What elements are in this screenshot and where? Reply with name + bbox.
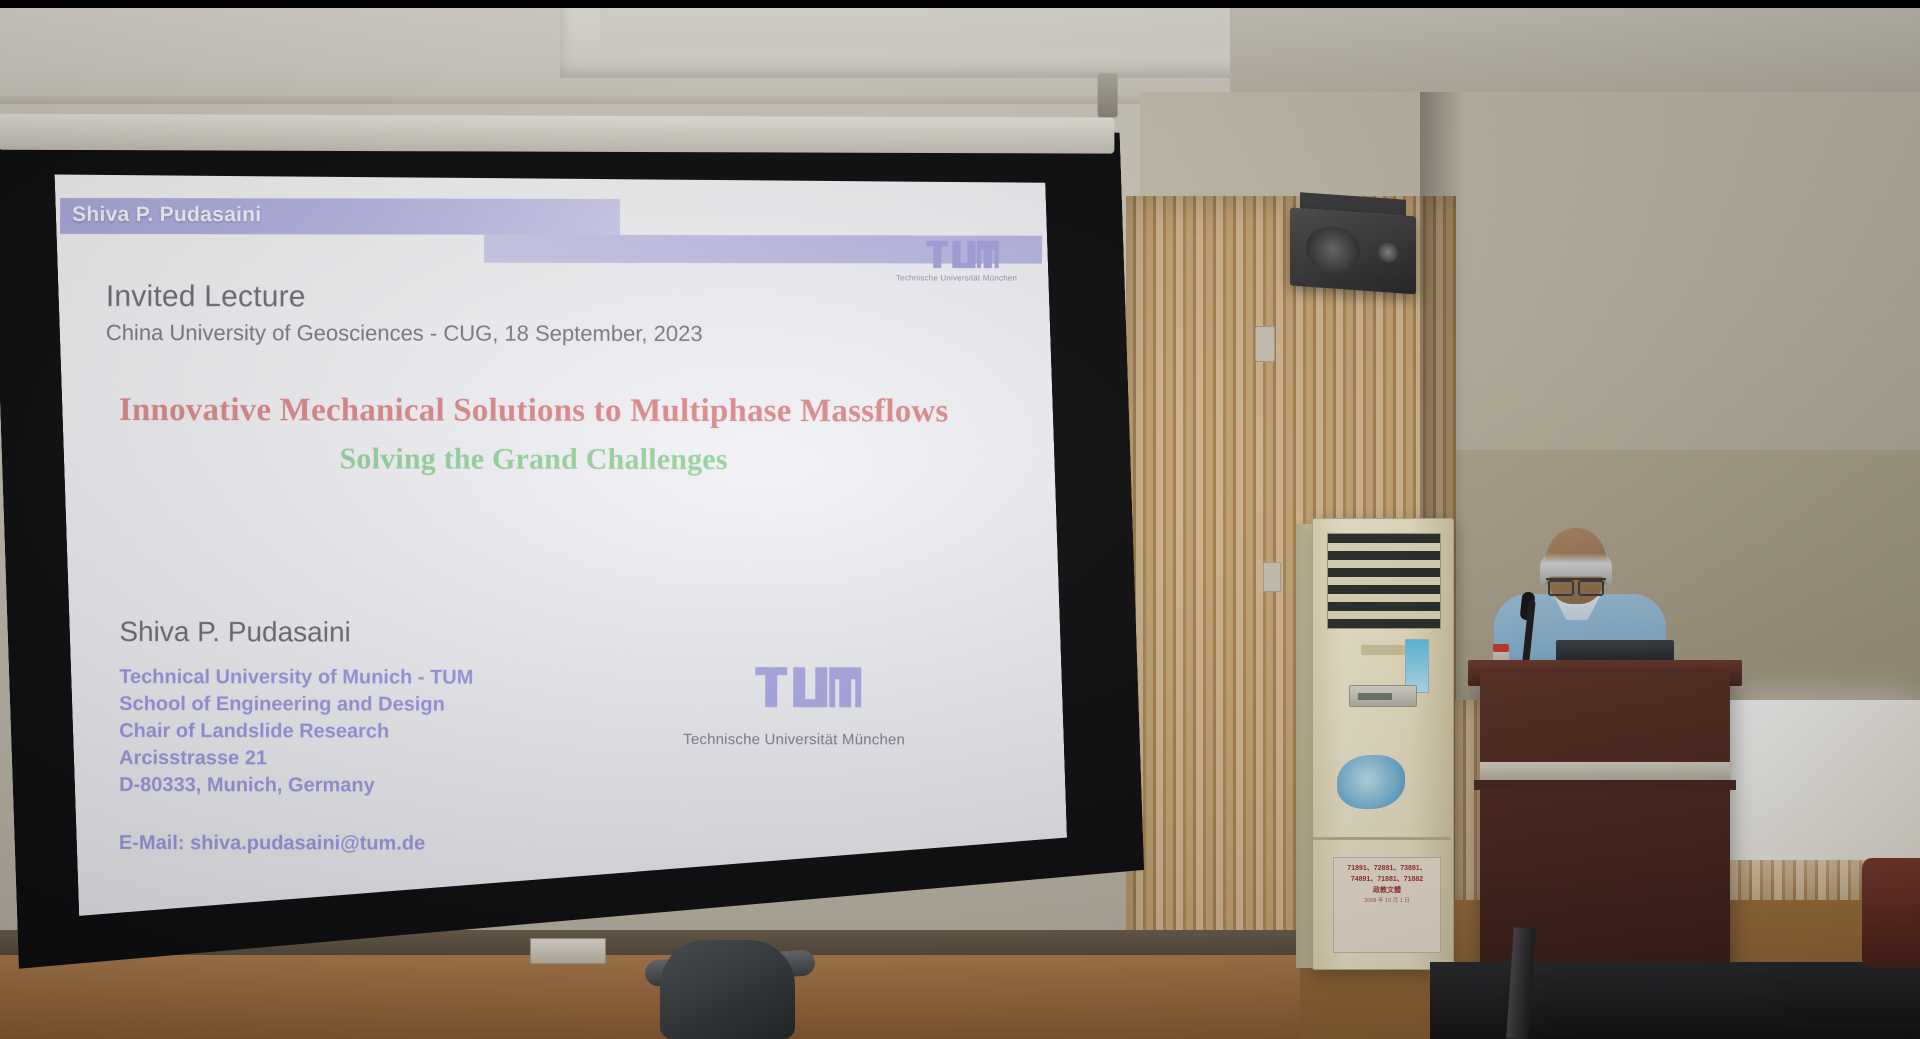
podium-front-edge (1474, 780, 1736, 790)
speaker-cone-icon (1306, 225, 1360, 275)
ac-notice-line2: 74891、71881、71882 (1337, 874, 1437, 885)
ac-display-icon (1358, 693, 1392, 700)
air-conditioner: 71891、72891、73891、 74891、71881、71882 政教文… (1312, 518, 1454, 970)
bottle-cap-icon (1493, 644, 1509, 652)
slide-venue: China University of Geosciences - CUG, 1… (106, 320, 703, 347)
ceiling-beam (1230, 0, 1920, 92)
screen-roller-housing (0, 114, 1114, 154)
ac-brand-logo (1361, 645, 1405, 655)
wall-speaker (1290, 208, 1416, 295)
slide-author: Shiva P. Pudasaini (119, 616, 350, 648)
slide-name-bar-text: Shiva P. Pudasaini (72, 203, 261, 227)
foreground-chair (660, 940, 795, 1039)
ac-decal-icon (1337, 755, 1405, 809)
ac-control-panel[interactable] (1349, 685, 1417, 707)
ac-notice-line4: 2008 年 10 月 1 日 (1337, 896, 1437, 907)
slide-eyebrow: Invited Lecture (106, 280, 306, 314)
projected-slide: Shiva P. Pudasaini Technische Universitä… (54, 131, 1069, 923)
affiliation-line: Technical University of Munich - TUM (119, 664, 473, 692)
tum-logo-icon-top (924, 239, 1008, 269)
slide-title-line2: Solving the Grand Challenges (54, 442, 1014, 478)
laptop-screen[interactable] (1556, 640, 1674, 662)
wall-plate-lower[interactable] (1263, 562, 1281, 592)
affiliation-line: Chair of Landslide Research (119, 718, 473, 746)
window-light (1730, 700, 1920, 860)
affiliation-line: D-80333, Munich, Germany (119, 772, 473, 800)
ac-notice-label: 71891、72891、73891、 74891、71881、71882 政教文… (1333, 857, 1441, 953)
speaker-tweeter-icon (1378, 242, 1398, 263)
podium-band (1480, 762, 1730, 780)
slide-title-line1: Innovative Mechanical Solutions to Multi… (54, 392, 1014, 431)
image-top-edge (0, 0, 1920, 8)
affiliation-line: Arcisstrasse 21 (119, 745, 473, 773)
tum-logo-icon-main (753, 663, 873, 711)
ac-vent-grill (1327, 533, 1441, 629)
ac-panel-seam (1313, 837, 1451, 840)
ac-notice-line3: 政教文體 (1337, 885, 1437, 896)
glasses-icon (1546, 578, 1606, 593)
tum-subtitle-top: Technische Universität München (896, 273, 1017, 282)
screen-roller-cap (1098, 73, 1118, 117)
projection-screen: Shiva P. Pudasaini Technische Universitä… (0, 62, 1159, 989)
slide-email: E-Mail: shiva.pudasaini@tum.de (119, 832, 425, 856)
affiliation-line: School of Engineering and Design (119, 691, 473, 719)
foreground-chair-right (1862, 858, 1920, 968)
slide-affiliation-block: Technical University of Munich - TUM Sch… (119, 664, 473, 800)
tum-subtitle-main: Technische Universität München (683, 731, 905, 748)
ac-notice-line1: 71891、72891、73891、 (1337, 863, 1437, 874)
foreground-table (1430, 962, 1920, 1039)
wall-plate[interactable] (1255, 326, 1275, 362)
lecture-hall-photo: Shiva P. Pudasaini Technische Universitä… (0, 0, 1920, 1039)
